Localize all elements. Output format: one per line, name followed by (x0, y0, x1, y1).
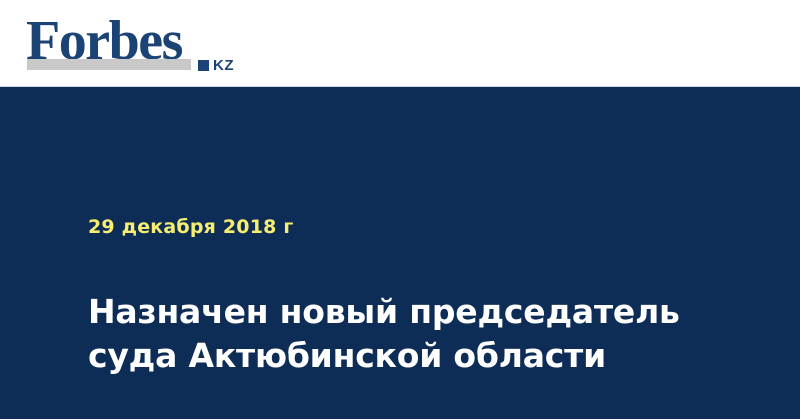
forbes-kz-logo[interactable]: Forbes KZ (26, 13, 236, 75)
logo-kz-group: KZ (198, 58, 234, 73)
site-header: Forbes KZ (0, 0, 800, 87)
article-date: 29 декабря 2018 г (88, 215, 294, 239)
article-hero: 29 декабря 2018 г Назначен новый председ… (0, 87, 800, 419)
logo-edition-label: KZ (213, 58, 234, 73)
article-headline: Назначен новый председатель суда Актюбин… (88, 290, 728, 378)
article-hero-page: Forbes KZ 29 декабря 2018 г Назначен нов… (0, 0, 800, 419)
logo-underbar (27, 59, 191, 70)
logo-square-icon (198, 60, 209, 71)
